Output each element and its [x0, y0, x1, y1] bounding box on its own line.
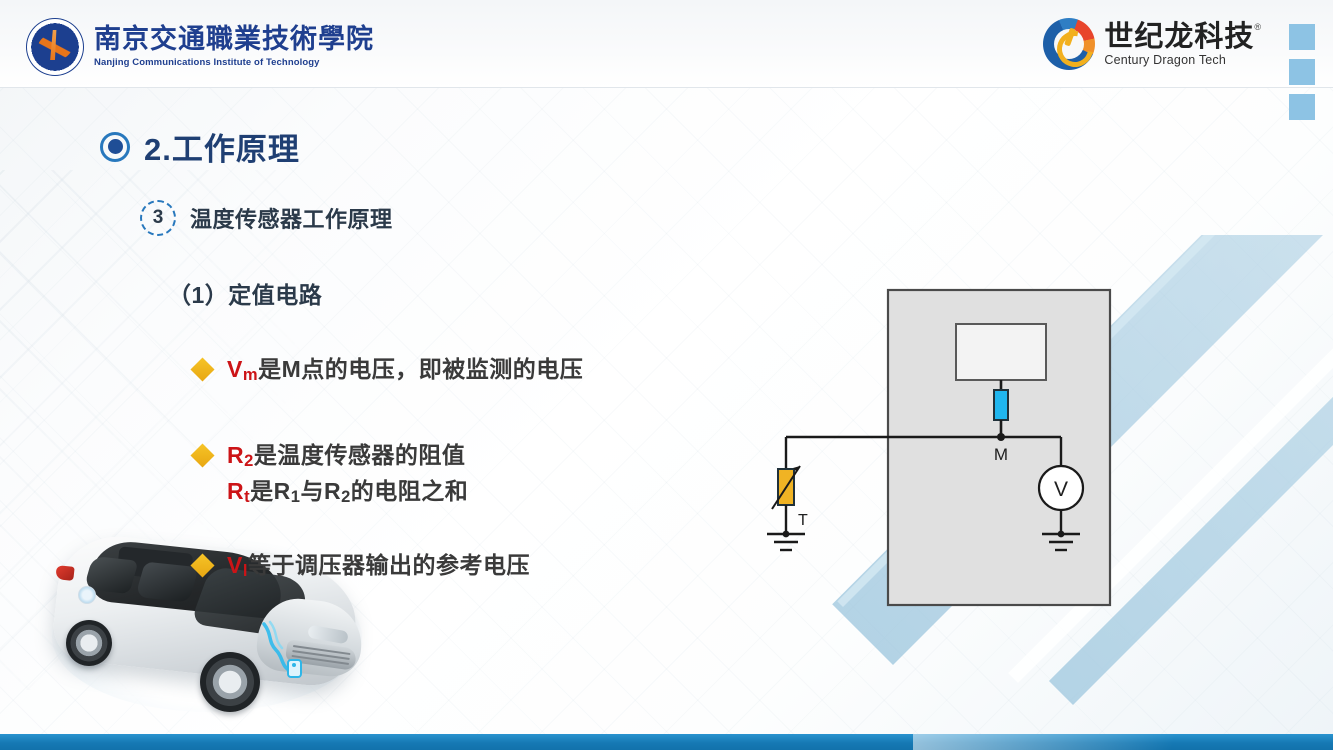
bullet-item-2: R2是温度传感器的阻值 Rt是R1与R2的电阻之和: [194, 438, 468, 509]
bullet-2-text: R2是温度传感器的阻值 Rt是R1与R2的电阻之和: [227, 438, 468, 509]
sym-v: V: [227, 356, 243, 382]
decor-square: [1289, 59, 1315, 85]
bullet-1-text: Vm是M点的电压，即被监测的电压: [227, 352, 583, 388]
school-logo: 南京交通職業技術學院 Nanjing Communications Instit…: [26, 18, 374, 76]
sym-r-sub: 2: [244, 451, 254, 470]
resistor-r1: [994, 390, 1008, 420]
bullet-2-line-1-rest: 是温度传感器的阻值: [254, 442, 466, 468]
sym-r: R: [227, 442, 244, 468]
bullet-item-1: Vm是M点的电压，即被监测的电压: [194, 352, 583, 388]
b2l2-b: 与R: [300, 478, 341, 504]
bullet-2-line-2: Rt是R1与R2的电阻之和: [227, 474, 468, 510]
company-logo: 世纪龙科技 ® Century Dragon Tech: [1043, 18, 1261, 70]
diamond-bullet-icon: [190, 357, 214, 381]
subsection-label: 温度传感器工作原理: [190, 202, 393, 234]
subsection-badge: 3: [140, 200, 176, 236]
item-label: （1）定值电路: [168, 276, 322, 310]
ecu-inner-box: [956, 324, 1046, 380]
voltmeter-label-v: V: [1054, 478, 1068, 501]
bullet-1-rest: 是M点的电压，即被监测的电压: [258, 356, 583, 382]
bullet-3-text: Vl等于调压器输出的参考电压: [227, 548, 530, 584]
decor-square: [1289, 24, 1315, 50]
bullet-3-rest: 等于调压器输出的参考电压: [248, 552, 530, 578]
bottom-bar: [0, 734, 1333, 750]
bullet-item-3: Vl等于调压器输出的参考电压: [194, 548, 530, 584]
school-name-en: Nanjing Communications Institute of Tech…: [94, 57, 374, 68]
ground-symbol-left: [767, 531, 805, 550]
node-m-label: M: [994, 445, 1008, 464]
diamond-bullet-icon: [190, 553, 214, 577]
b2l2-a: 是R: [250, 478, 291, 504]
node-m-dot: [997, 433, 1005, 441]
century-dragon-logo-icon: [1043, 18, 1095, 70]
charging-glow-icon: [258, 620, 334, 678]
car-illustration: [22, 512, 382, 722]
circuit-diagram: M T V: [760, 280, 1140, 625]
registered-mark: ®: [1254, 22, 1261, 32]
sym-vl: V: [227, 552, 243, 578]
company-name-en: Century Dragon Tech: [1104, 53, 1261, 67]
header-decor-squares: [1289, 24, 1315, 120]
sym-rt: R: [227, 478, 244, 504]
radio-dot-icon: [100, 132, 130, 162]
decor-square: [1289, 94, 1315, 120]
b2l2-sub-a: 1: [291, 487, 301, 506]
thermistor-label-t: T: [798, 512, 808, 529]
school-seal-icon: [26, 18, 84, 76]
school-name-cn: 南京交通職業技術學院: [94, 26, 374, 54]
diamond-bullet-icon: [190, 443, 214, 467]
header-divider: [0, 87, 1333, 88]
sym-v-sub: m: [243, 365, 258, 384]
page-title-text: 2.工作原理: [144, 124, 300, 169]
subsection-heading: 3 温度传感器工作原理: [140, 200, 393, 236]
page-title: 2.工作原理: [100, 124, 300, 169]
background-texture-left: [0, 170, 300, 690]
company-name-cn: 世纪龙科技: [1104, 22, 1254, 51]
slide-root: 南京交通職業技術學院 Nanjing Communications Instit…: [0, 0, 1333, 750]
b2l2-sub-b: 2: [341, 487, 351, 506]
bullet-2-line-1: R2是温度传感器的阻值: [227, 438, 468, 474]
b2l2-c: 的电阻之和: [351, 478, 469, 504]
